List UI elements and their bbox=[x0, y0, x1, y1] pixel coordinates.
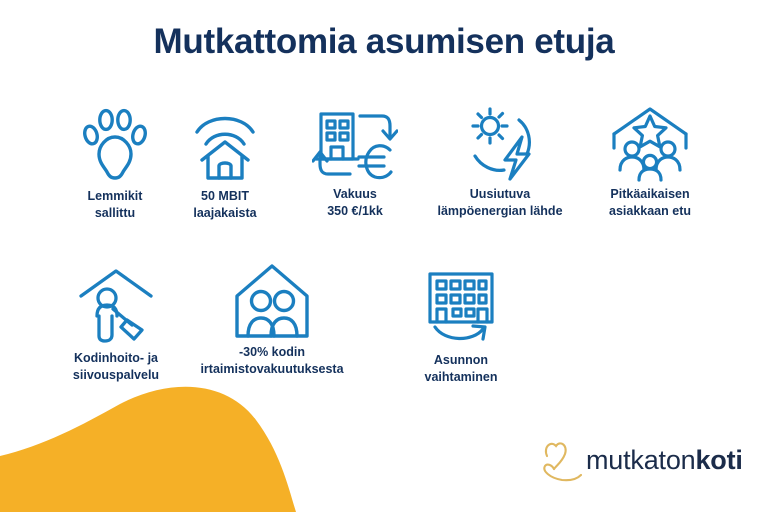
building-euro-cycle-icon bbox=[312, 104, 398, 186]
apartment-swap-icon bbox=[421, 270, 501, 344]
icon-container bbox=[190, 262, 354, 340]
wifi-house-icon bbox=[188, 106, 262, 182]
benefit-item-home-cleaning: Kodinhoito- ja siivouspalvelu bbox=[44, 268, 188, 383]
brand-word-bold: koti bbox=[695, 445, 742, 475]
icon-container bbox=[420, 104, 580, 182]
benefit-label: Vakuus 350 €/1kk bbox=[288, 186, 422, 219]
brand-logo: mutkatonkoti bbox=[534, 432, 750, 488]
icon-container bbox=[578, 104, 722, 182]
benefit-item-apartment-swap: Asunnon vaihtaminen bbox=[390, 270, 532, 385]
house-star-people-icon bbox=[608, 104, 692, 182]
heart-swoosh-icon bbox=[534, 435, 582, 485]
benefit-label: 50 MBIT laajakaista bbox=[158, 188, 292, 221]
paw-print-icon bbox=[79, 106, 151, 182]
sun-lightning-icon bbox=[459, 104, 541, 184]
benefit-item-loyalty: Pitkäaikaisen asiakkaan etu bbox=[578, 104, 722, 219]
benefit-label: Uusiutuva lämpöenergian lähde bbox=[420, 186, 580, 219]
benefit-label: Pitkäaikaisen asiakkaan etu bbox=[578, 186, 722, 219]
icon-container bbox=[288, 104, 422, 182]
benefit-item-contents-insurance: -30% kodin irtaimistovakuutuksesta bbox=[190, 262, 354, 377]
benefit-item-deposit: Vakuus 350 €/1kk bbox=[288, 104, 422, 219]
brand-word-light: mutkaton bbox=[586, 445, 695, 475]
icon-container bbox=[158, 106, 292, 184]
house-two-people-icon bbox=[230, 262, 314, 342]
cleaning-person-icon bbox=[75, 268, 157, 344]
brand-wordmark: mutkatonkoti bbox=[586, 445, 743, 476]
benefit-label: Kodinhoito- ja siivouspalvelu bbox=[44, 350, 188, 383]
benefit-item-renewable-heat: Uusiutuva lämpöenergian lähde bbox=[420, 104, 580, 219]
benefit-item-broadband: 50 MBIT laajakaista bbox=[158, 106, 292, 221]
icon-container bbox=[390, 270, 532, 348]
benefit-label: Asunnon vaihtaminen bbox=[390, 352, 532, 385]
page-title: Mutkattomia asumisen etuja bbox=[0, 22, 768, 62]
benefit-label: -30% kodin irtaimistovakuutuksesta bbox=[190, 344, 354, 377]
icon-container bbox=[44, 268, 188, 346]
